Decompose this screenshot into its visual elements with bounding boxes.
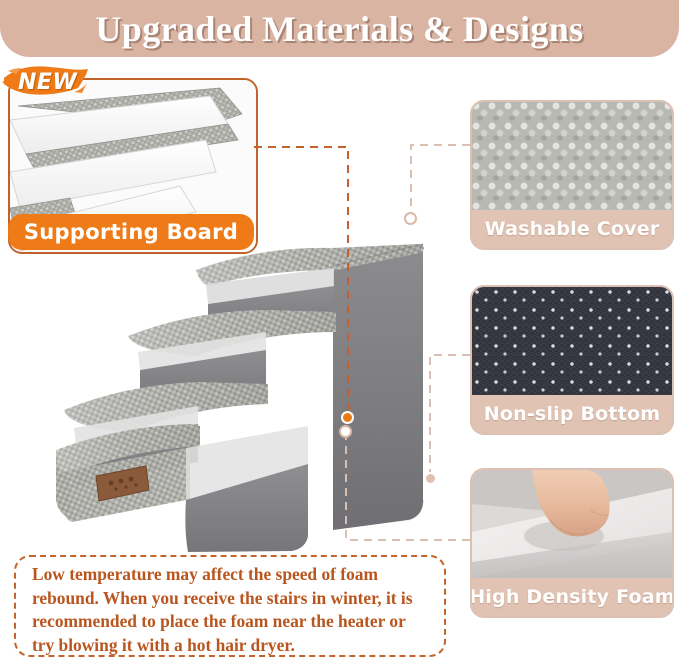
- temperature-warning-note: Low temperature may affect the speed of …: [14, 555, 446, 657]
- header-banner: Upgraded Materials & Designs: [0, 0, 679, 57]
- new-badge: NEW: [2, 62, 90, 102]
- high-density-foam-caption: High Density Foam: [472, 578, 672, 616]
- page-title: Upgraded Materials & Designs: [95, 8, 583, 50]
- connector-dot-high-density-foam: [339, 425, 352, 438]
- connector-dot-non-slip-bottom: [424, 472, 437, 485]
- feature-panel-non-slip-bottom: Non-slip Bottom: [470, 285, 674, 435]
- new-badge-label: NEW: [18, 70, 77, 95]
- connector-dot-supporting-board: [341, 411, 354, 424]
- non-slip-bottom-texture: [472, 287, 672, 395]
- supporting-board-caption: Supporting Board: [8, 214, 254, 250]
- stairs-side-panel: [333, 244, 423, 530]
- feature-panel-washable-cover: Washable Cover: [470, 100, 674, 250]
- connector-dot-washable-cover: [404, 212, 417, 225]
- temperature-warning-text: Low temperature may affect the speed of …: [32, 563, 430, 657]
- washable-cover-texture: [472, 102, 672, 210]
- high-density-foam-photo: [472, 470, 672, 578]
- infographic-root: Upgraded Materials & Designs: [0, 0, 679, 671]
- pet-stairs-image: [0, 200, 470, 570]
- feature-panel-high-density-foam: High Density Foam: [470, 468, 674, 618]
- washable-cover-caption: Washable Cover: [472, 210, 672, 248]
- non-slip-bottom-caption: Non-slip Bottom: [472, 395, 672, 433]
